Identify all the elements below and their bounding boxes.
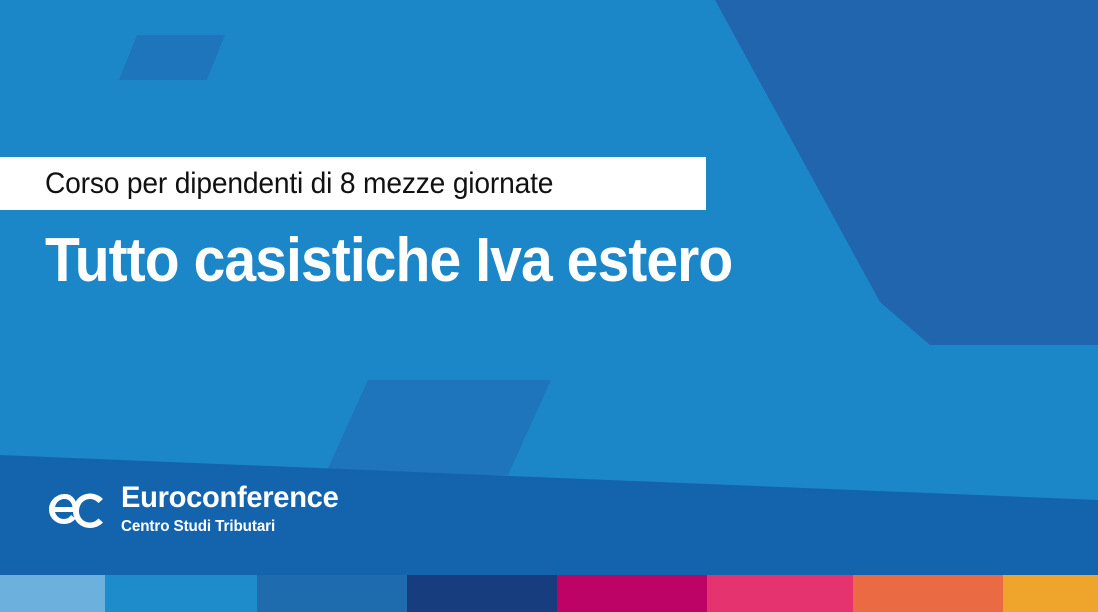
color-strip-segment-magenta [557, 575, 707, 612]
color-strip-segment-orange [853, 575, 1003, 612]
logo-wordmark: Euroconference Centro Studi Tributari [121, 483, 345, 535]
brand-logo[interactable]: Euroconference Centro Studi Tributari [45, 483, 345, 535]
color-strip-segment-blue [105, 575, 257, 612]
color-strip-segment-amber [1003, 575, 1098, 612]
color-strip-segment-light-blue [0, 575, 105, 612]
ec-monogram-icon [45, 487, 107, 531]
promotional-banner: Corso per dipendenti di 8 mezze giornate… [0, 0, 1098, 612]
page-title: Tutto casistiche Iva estero [45, 228, 732, 293]
decorative-parallelogram-top-left [119, 35, 225, 80]
color-strip-segment-navy [407, 575, 557, 612]
logo-tagline: Centro Studi Tributari [121, 519, 334, 535]
logo-name: Euroconference [121, 483, 338, 513]
color-strip-segment-pink [707, 575, 853, 612]
eyebrow-label: Corso per dipendenti di 8 mezze giornate [0, 157, 706, 210]
eyebrow-text: Corso per dipendenti di 8 mezze giornate [45, 167, 553, 201]
brand-color-strip [0, 575, 1098, 612]
color-strip-segment-medium-blue [257, 575, 407, 612]
